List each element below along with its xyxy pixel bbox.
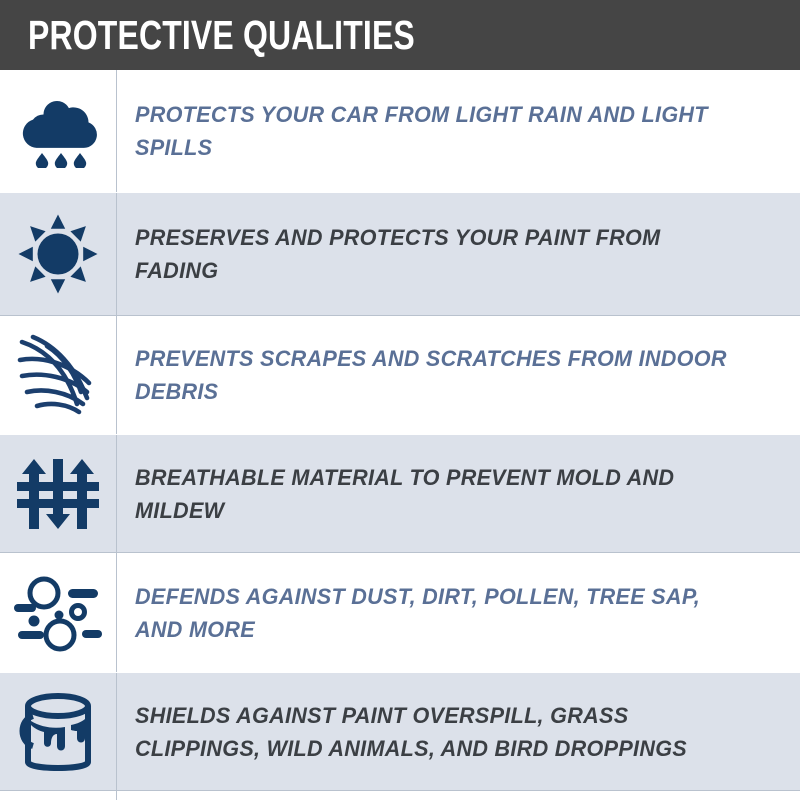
footer-strip bbox=[0, 790, 800, 800]
text-cell: DEFENDS AGAINST DUST, DIRT, POLLEN, TREE… bbox=[117, 553, 800, 672]
feature-row-paint: SHIELDS AGAINST PAINT OVERSPILL, GRASS C… bbox=[0, 672, 800, 790]
text-cell: PROTECTS YOUR CAR FROM LIGHT RAIN AND LI… bbox=[117, 70, 800, 192]
header-bar: PROTECTIVE QUALITIES bbox=[0, 0, 800, 70]
sun-icon bbox=[18, 214, 98, 294]
mesh-net-icon bbox=[17, 330, 99, 420]
paint-can-icon bbox=[15, 686, 101, 778]
icon-cell bbox=[0, 193, 116, 315]
feature-row-list: PROTECTS YOUR CAR FROM LIGHT RAIN AND LI… bbox=[0, 70, 800, 800]
dust-particles-icon bbox=[12, 571, 104, 655]
text-cell: PREVENTS SCRAPES AND SCRATCHES FROM INDO… bbox=[117, 316, 800, 434]
feature-text: PROTECTS YOUR CAR FROM LIGHT RAIN AND LI… bbox=[135, 98, 748, 164]
icon-cell bbox=[0, 316, 116, 434]
feature-row-dust: DEFENDS AGAINST DUST, DIRT, POLLEN, TREE… bbox=[0, 552, 800, 672]
icon-cell bbox=[0, 70, 116, 192]
icon-cell bbox=[0, 673, 116, 790]
page-title: PROTECTIVE QUALITIES bbox=[28, 15, 415, 56]
footer-divider bbox=[116, 791, 117, 800]
protective-qualities-infographic: PROTECTIVE QUALITIES PROTECTS YOUR CAR F… bbox=[0, 0, 800, 800]
feature-row-sun: PRESERVES AND PROTECTS YOUR PAINT FROM F… bbox=[0, 192, 800, 315]
icon-cell bbox=[0, 435, 116, 552]
feature-text: SHIELDS AGAINST PAINT OVERSPILL, GRASS C… bbox=[135, 699, 748, 765]
feature-row-rain: PROTECTS YOUR CAR FROM LIGHT RAIN AND LI… bbox=[0, 70, 800, 192]
feature-text: BREATHABLE MATERIAL TO PREVENT MOLD AND … bbox=[135, 461, 748, 527]
text-cell: BREATHABLE MATERIAL TO PREVENT MOLD AND … bbox=[117, 435, 800, 552]
feature-text: DEFENDS AGAINST DUST, DIRT, POLLEN, TREE… bbox=[135, 580, 748, 646]
breathable-arrows-icon bbox=[15, 455, 101, 533]
text-cell: PRESERVES AND PROTECTS YOUR PAINT FROM F… bbox=[117, 193, 800, 315]
feature-row-mesh: PREVENTS SCRAPES AND SCRATCHES FROM INDO… bbox=[0, 315, 800, 434]
feature-row-breathable: BREATHABLE MATERIAL TO PREVENT MOLD AND … bbox=[0, 434, 800, 552]
cloud-rain-icon bbox=[19, 94, 97, 168]
text-cell: SHIELDS AGAINST PAINT OVERSPILL, GRASS C… bbox=[117, 673, 800, 790]
feature-text: PRESERVES AND PROTECTS YOUR PAINT FROM F… bbox=[135, 221, 748, 287]
feature-text: PREVENTS SCRAPES AND SCRATCHES FROM INDO… bbox=[135, 342, 748, 408]
icon-cell bbox=[0, 553, 116, 672]
